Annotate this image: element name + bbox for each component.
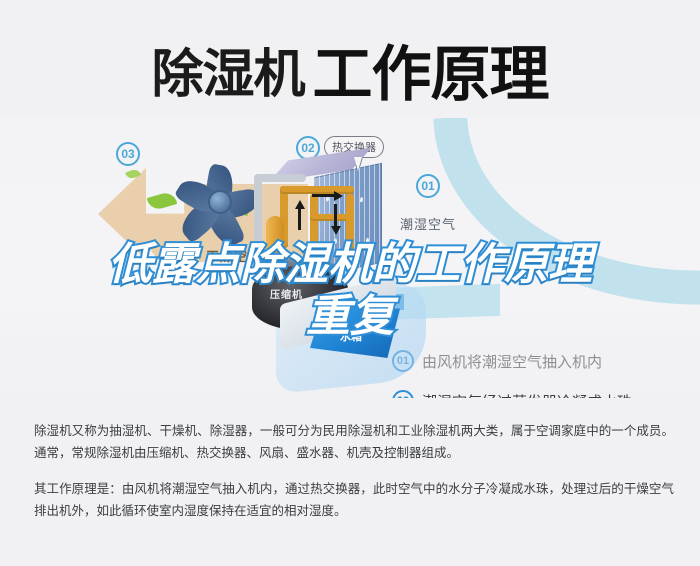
flow-arrow-right-icon (334, 191, 343, 201)
step-text-02: 潮湿空气经过蒸发器冷凝成水珠 (422, 391, 632, 399)
pipe-segment (346, 194, 354, 250)
badge-03-dry-air: 03 (116, 142, 140, 166)
page-title: 除湿机工作原理 (0, 26, 700, 113)
flow-arrow-stem (334, 204, 337, 226)
diagram-illustration: 01 潮湿空气 干燥空气 03 02 热交换器 (0, 118, 700, 398)
flow-arrow-down-icon (331, 226, 341, 235)
water-tank-label: 水箱 (340, 328, 362, 344)
step-badge-01: 01 (392, 350, 414, 372)
body-paragraph-1: 除湿机又称为抽湿机、干燥机、除湿器，一般可分为民用除湿机和工业除湿机两大类，属于… (34, 420, 674, 464)
pipe-segment (254, 174, 306, 182)
fan-hub (208, 190, 232, 214)
receiver-tank (266, 216, 284, 260)
refrigerant-pipes (254, 174, 370, 266)
flow-arrow-stem (312, 194, 334, 197)
leaf-icon (147, 190, 178, 211)
body-copy: 除湿机又称为抽湿机、干燥机、除湿器，一般可分为民用除湿机和工业除湿机两大类，属于… (34, 420, 674, 522)
flow-arrow-stem (298, 208, 301, 230)
step-badge-02: 02 (392, 390, 414, 398)
step-item-02: 02 潮湿空气经过蒸发器冷凝成水珠 (392, 390, 692, 398)
pipe-segment (254, 174, 262, 246)
page-root: 除湿机工作原理 01 潮湿空气 干燥空气 03 (0, 0, 700, 566)
body-paragraph-2: 其工作原理是：由风机将潮湿空气抽入机内，通过热交换器，此时空气中的水分子冷凝成水… (34, 478, 674, 522)
page-title-part1: 除湿机 (151, 46, 304, 104)
dehumidifier-machine: 压缩机 水箱 (236, 140, 426, 384)
page-title-part2: 工作原理 (313, 41, 549, 108)
step-text-01: 由风机将潮湿空气抽入机内 (422, 351, 602, 372)
step-list: 01 由风机将潮湿空气抽入机内 02 潮湿空气经过蒸发器冷凝成水珠 03 从上部… (392, 350, 692, 398)
step-item-01: 01 由风机将潮湿空气抽入机内 (392, 350, 692, 372)
pipe-segment (310, 194, 318, 248)
flow-arrow-up-icon (295, 200, 305, 209)
